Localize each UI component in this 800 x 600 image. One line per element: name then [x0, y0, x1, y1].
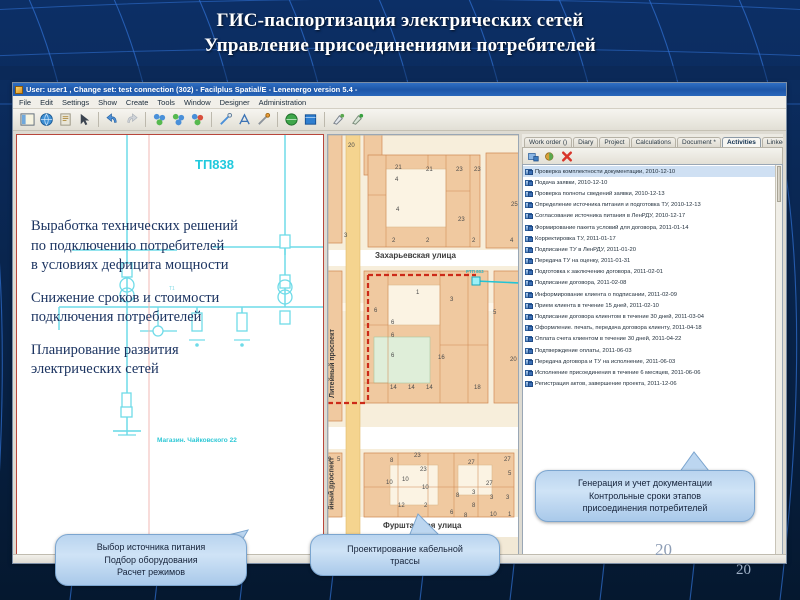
building-number: 9	[328, 457, 331, 463]
redo-icon[interactable]	[123, 111, 140, 128]
list-scrollbar[interactable]	[775, 165, 782, 559]
building-number: 3	[472, 490, 475, 496]
callout-middle-text: Проектирование кабельной трассы	[339, 540, 471, 571]
measure-icon[interactable]	[217, 111, 234, 128]
schematic-pane[interactable]: T1 ТП838 Магазин. Чайковского 22 Выработ…	[16, 134, 324, 560]
list-item[interactable]: Проверка комплектности документации, 201…	[523, 166, 782, 177]
activity-label: Оформление. печать, передача договора кл…	[535, 325, 702, 331]
building-number: 20	[348, 143, 355, 149]
toolbar-separator	[211, 112, 212, 127]
list-item[interactable]: Информирование клиента о подписании, 201…	[523, 289, 782, 300]
activity-label: Проверка комплектности документации, 201…	[535, 169, 675, 175]
building-number: 14	[408, 385, 415, 391]
list-item[interactable]: Подписание ТУ в ЛенРДУ, 2011-01-20	[523, 244, 782, 255]
building-number: 4	[510, 238, 513, 244]
building-number: 6	[391, 320, 394, 326]
activity-label: Передача договора и ТУ на исполнение, 20…	[535, 359, 675, 365]
bullet-1-line-1: Выработка технических решений	[31, 217, 321, 237]
callout-right-text: Генерация и учет документации Контрольны…	[570, 474, 720, 518]
activity-icon	[525, 303, 532, 309]
building-number: 18	[474, 385, 481, 391]
activity-label: Передача ТУ на оценку, 2011-01-31	[535, 258, 630, 264]
activity-label: Согласование источника питания в ЛенРДУ,…	[535, 213, 685, 219]
building-number: 8	[472, 503, 475, 509]
document-icon[interactable]	[57, 111, 74, 128]
list-item[interactable]: Исполнение присоединения в течение 6 мес…	[523, 367, 782, 378]
add-node-green-icon[interactable]	[151, 111, 168, 128]
list-item[interactable]: Передача ТУ на оценку, 2011-01-31	[523, 256, 782, 267]
building-number: 23	[420, 467, 427, 473]
list-item[interactable]: Согласование источника питания в ЛенРДУ,…	[523, 211, 782, 222]
building-number: 12	[398, 503, 405, 509]
list-item[interactable]: Передача договора и ТУ на исполнение, 20…	[523, 356, 782, 367]
list-item[interactable]: Оплата счета клиентом в течение 30 дней,…	[523, 334, 782, 345]
callout-middle-line-1: Проектирование кабельной	[347, 543, 463, 556]
building-number: 23	[414, 453, 421, 459]
activity-icon	[525, 236, 532, 242]
callout-left-line-1: Выбор источника питания	[97, 541, 206, 554]
bullet-2-line-1: Снижение сроков и стоимости	[31, 289, 321, 309]
building-number: 14	[390, 385, 397, 391]
activity-label: Определение источника питания и подготов…	[535, 202, 701, 208]
bullet-paragraph-1: Выработка технических решений по подключ…	[31, 217, 321, 276]
building-number: 2	[424, 503, 427, 509]
building-number: 23	[456, 167, 463, 173]
building-number: 7	[332, 487, 335, 493]
activity-icon	[525, 191, 532, 197]
building-number: 1	[416, 290, 419, 296]
list-item[interactable]: Оформление. печать, передача договора кл…	[523, 323, 782, 334]
menu-item-create[interactable]: Create	[126, 98, 149, 107]
callout-right-line-2: Контрольные сроки этапов	[578, 490, 712, 503]
activity-icon	[525, 292, 532, 298]
activity-icon	[525, 169, 532, 175]
building-number: 8	[464, 513, 467, 519]
menu-item-designer[interactable]: Designer	[220, 98, 250, 107]
cube-blue-icon[interactable]	[302, 111, 319, 128]
window-titlebar: User: user1 , Change set: test connectio…	[13, 83, 786, 96]
building-number: 3	[490, 495, 493, 501]
activity-label: Регистрация актов, завершение проекта, 2…	[535, 381, 677, 387]
building-number: 3	[450, 297, 453, 303]
menu-item-tools[interactable]: Tools	[157, 98, 175, 107]
building-number: 4	[395, 177, 398, 183]
scrollbar-thumb[interactable]	[777, 166, 781, 202]
text-tool-icon[interactable]	[236, 111, 253, 128]
street-label-zaharyevskaya: Захарьевская улица	[375, 251, 456, 260]
activity-icon	[525, 213, 532, 219]
bullet-text-overlay: Выработка технических решений по подключ…	[31, 217, 321, 393]
activity-label: Формирование пакета условий для договора…	[535, 225, 689, 231]
callout-left-line-2: Подбор оборудования	[97, 554, 206, 567]
list-item[interactable]: Подписание договора, 2011-02-08	[523, 278, 782, 289]
callout-right-line-3: присоединения потребителей	[578, 502, 712, 515]
activity-icon	[525, 225, 532, 231]
building-number: 5	[493, 310, 496, 316]
activity-icon	[525, 370, 532, 376]
bullet-1-line-3: в условиях дефицита мощности	[31, 256, 321, 276]
tab-project[interactable]: Project	[599, 137, 629, 148]
callout-left-text: Выбор источника питания Подбор оборудова…	[89, 538, 214, 582]
tab-linked-objects[interactable]: Linked o	[762, 137, 783, 148]
page-title-line2: Управление присоединениями потребителей	[0, 33, 800, 58]
building-number: 27	[504, 457, 511, 463]
add-node-green2-icon[interactable]	[170, 111, 187, 128]
building-number: 2	[472, 238, 475, 244]
bullet-3-line-1: Планирование развития	[31, 341, 321, 361]
list-item[interactable]: Подача заявки, 2010-12-10	[523, 177, 782, 188]
bullet-3-line-2: электрических сетей	[31, 360, 321, 380]
activity-icon	[525, 258, 532, 264]
activity-label: Подписание ТУ в ЛенРДУ, 2011-01-20	[535, 247, 636, 253]
activity-icon	[525, 280, 532, 286]
app-logo-icon	[15, 86, 23, 94]
undo-icon[interactable]	[104, 111, 121, 128]
activity-label: Подтверждение оплаты, 2011-06-03	[535, 348, 632, 354]
street-label-liteyny-prospekt: Литейный проспект	[329, 329, 336, 398]
activity-icon	[525, 325, 532, 331]
tab-document[interactable]: Document *	[677, 137, 721, 148]
activity-label: Информирование клиента о подписании, 201…	[535, 292, 677, 298]
edit-activity-icon[interactable]	[543, 149, 557, 163]
activity-icon	[525, 314, 532, 320]
building-number: 4	[396, 207, 399, 213]
list-item[interactable]: Корректировка ТУ, 2011-01-17	[523, 233, 782, 244]
building-number: 10	[422, 485, 429, 491]
activity-label: Проверка полноты сведений заявки, 2010-1…	[535, 191, 665, 197]
page-number: 20	[736, 562, 751, 579]
building-number: 21	[395, 165, 402, 171]
consumer-label: Магазин. Чайковского 22	[157, 437, 237, 444]
building-number: 3	[506, 495, 509, 501]
pointer-icon[interactable]	[76, 111, 93, 128]
activity-label: Исполнение присоединения в течение 6 мес…	[535, 370, 700, 376]
callout-power-source: Выбор источника питания Подбор оборудова…	[55, 534, 247, 586]
callout-right-line-1: Генерация и учет документации	[578, 477, 712, 490]
menu-item-edit[interactable]: Edit	[40, 98, 53, 107]
activity-icon	[525, 269, 532, 275]
menu-item-file[interactable]: File	[19, 98, 31, 107]
bullet-2-line-2: подключения потребителей	[31, 308, 321, 328]
rtp-label: РТП 803	[466, 269, 484, 274]
new-activity-icon[interactable]	[526, 149, 540, 163]
activity-label: Прием клиента в течение 15 дней, 2011-02…	[535, 303, 659, 309]
activity-label: Подписание договора клиентом в течение 3…	[535, 314, 704, 320]
building-number: 2	[426, 238, 429, 244]
pick-tool-icon[interactable]	[255, 111, 272, 128]
callout-middle-line-2: трассы	[347, 555, 463, 568]
activity-label: Подача заявки, 2010-12-10	[535, 180, 607, 186]
activity-icon	[525, 381, 532, 387]
callout-cable-route: Проектирование кабельной трассы	[310, 534, 500, 576]
building-number: 20	[510, 357, 517, 363]
page-title-line1: ГИС-паспортизация электрических сетей	[0, 8, 800, 33]
bullet-paragraph-2: Снижение сроков и стоимости подключения …	[31, 289, 321, 328]
list-item[interactable]: Проверка полноты сведений заявки, 2010-1…	[523, 188, 782, 199]
building-number: 23	[458, 217, 465, 223]
building-number: 5	[337, 457, 340, 463]
callout-documentation: Генерация и учет документации Контрольны…	[535, 470, 755, 522]
building-number: 2	[392, 238, 395, 244]
building-number: 3	[344, 233, 347, 239]
building-number: 10	[402, 477, 409, 483]
activity-icon	[525, 336, 532, 342]
activity-icon	[525, 359, 532, 365]
building-number: 6	[374, 308, 377, 314]
activity-icon	[525, 348, 532, 354]
menu-bar[interactable]: File Edit Settings Show Create Tools Win…	[13, 96, 786, 109]
building-number: 1	[508, 512, 511, 518]
list-item[interactable]: Регистрация актов, завершение проекта, 2…	[523, 379, 782, 390]
building-number: 16	[438, 355, 445, 361]
toolbar-separator	[145, 112, 146, 127]
add-node-multi-icon[interactable]	[189, 111, 206, 128]
building-number: 5	[508, 471, 511, 477]
menu-item-administration[interactable]: Administration	[259, 98, 307, 107]
activity-label: Подписание договора, 2011-02-08	[535, 280, 626, 286]
tab-calculations[interactable]: Calculations	[631, 137, 676, 148]
building-number: 14	[426, 385, 433, 391]
menu-item-settings[interactable]: Settings	[62, 98, 89, 107]
window-title-text: User: user1 , Change set: test connectio…	[26, 85, 357, 94]
list-item[interactable]: Определение источника питания и подготов…	[523, 200, 782, 211]
list-item[interactable]: Подписание договора клиентом в течение 3…	[523, 311, 782, 322]
building-number: 25	[511, 202, 518, 208]
activity-icon	[525, 180, 532, 186]
main-toolbar[interactable]	[13, 109, 786, 131]
street-label-liteyny-prospekt-2: йный проспект	[329, 457, 336, 509]
page-title: ГИС-паспортизация электрических сетей Уп…	[0, 8, 800, 58]
building-number: 8	[456, 493, 459, 499]
panel-toggle-icon[interactable]	[19, 111, 36, 128]
substation-label: ТП838	[195, 157, 234, 172]
toolbar-separator	[98, 112, 99, 127]
menu-item-show[interactable]: Show	[98, 98, 117, 107]
paint-green-icon[interactable]	[349, 111, 366, 128]
menu-item-window[interactable]: Window	[184, 98, 211, 107]
tab-work-order[interactable]: Work order ()	[524, 137, 572, 148]
building-number: 27	[486, 481, 493, 487]
list-item[interactable]: Формирование пакета условий для договора…	[523, 222, 782, 233]
tab-diary[interactable]: Diary	[573, 137, 598, 148]
building-number: 23	[474, 167, 481, 173]
building-number: 6	[391, 353, 394, 359]
toolbar-separator	[324, 112, 325, 127]
list-item[interactable]: Подготовка к заключению договора, 2011-0…	[523, 267, 782, 278]
bullet-paragraph-3: Планирование развития электрических сете…	[31, 341, 321, 380]
activity-label: Подготовка к заключению договора, 2011-0…	[535, 269, 663, 275]
map-pane[interactable]: Захарьевская улица Фурштатская улица Лит…	[327, 134, 519, 560]
activity-icon	[525, 247, 532, 253]
globe-icon[interactable]	[38, 111, 55, 128]
bullet-1-line-2: по подключению потребителей	[31, 237, 321, 257]
sphere-green-icon[interactable]	[283, 111, 300, 128]
list-item[interactable]: Подтверждение оплаты, 2011-06-03	[523, 345, 782, 356]
tab-activities[interactable]: Activities	[722, 137, 761, 148]
building-number: 27	[468, 460, 475, 466]
building-number: 21	[426, 167, 433, 173]
activity-label: Оплата счета клиентом в течение 30 дней,…	[535, 336, 681, 342]
building-number: 6	[391, 333, 394, 339]
delete-activity-icon[interactable]	[560, 149, 574, 163]
building-number: 10	[490, 512, 497, 518]
tab-strip[interactable]: Work order () Diary Project Calculations…	[522, 134, 783, 147]
activity-icon	[525, 202, 532, 208]
building-number: 10	[386, 480, 393, 486]
list-item[interactable]: Прием клиента в течение 15 дней, 2011-02…	[523, 300, 782, 311]
toolbar-separator	[277, 112, 278, 127]
paint-icon[interactable]	[330, 111, 347, 128]
page-number-large: 20	[655, 540, 672, 560]
callout-left-line-3: Расчет режимов	[97, 566, 206, 579]
building-number: 8	[390, 458, 393, 464]
activity-label: Корректировка ТУ, 2011-01-17	[535, 236, 616, 242]
activity-toolbar[interactable]	[522, 147, 783, 164]
